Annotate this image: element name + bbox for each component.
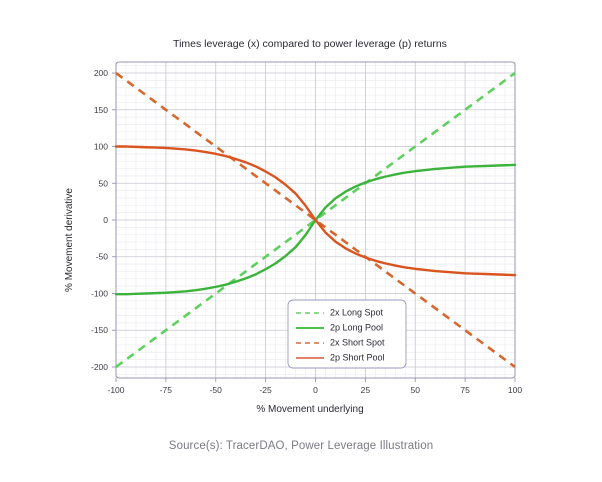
x-tick-label: -75 [160,385,173,395]
y-tick-label: 150 [94,105,108,115]
y-tick-label: -150 [91,325,108,335]
y-tick-label: -50 [96,252,109,262]
x-axis-label: % Movement underlying [256,404,363,415]
legend-label: 2x Long Spot [330,307,384,317]
y-axis-label: % Movement derivative [64,188,75,292]
x-tick-label: -100 [107,385,124,395]
x-tick-label: 50 [411,385,421,395]
chart-title: Times leverage (x) compared to power lev… [173,38,447,50]
x-tick-label: -50 [210,385,223,395]
y-tick-label: -100 [91,288,108,298]
y-tick-label: 200 [94,68,108,78]
legend-label: 2p Short Pool [330,352,385,362]
y-tick-label: 0 [103,215,108,225]
legend-label: 2p Long Pool [330,322,383,332]
x-tick-label: 0 [313,385,318,395]
x-tick-label: 100 [508,385,522,395]
x-tick-label: 75 [460,385,470,395]
x-tick-labels: -100-75-50-250255075100 [107,385,522,395]
chart-figure: -100-75-50-250255075100 -200-150-100-500… [0,0,602,482]
y-tick-label: 50 [99,178,109,188]
legend-label: 2x Short Spot [330,337,385,347]
chart-legend[interactable]: 2x Long Spot2p Long Pool2x Short Spot2p … [288,300,406,368]
y-tick-label: 100 [94,142,108,152]
source-caption: Source(s): TracerDAO, Power Leverage Ill… [0,440,602,452]
x-tick-label: -25 [259,385,272,395]
y-tick-label: -200 [91,362,108,372]
x-tick-label: 25 [361,385,371,395]
